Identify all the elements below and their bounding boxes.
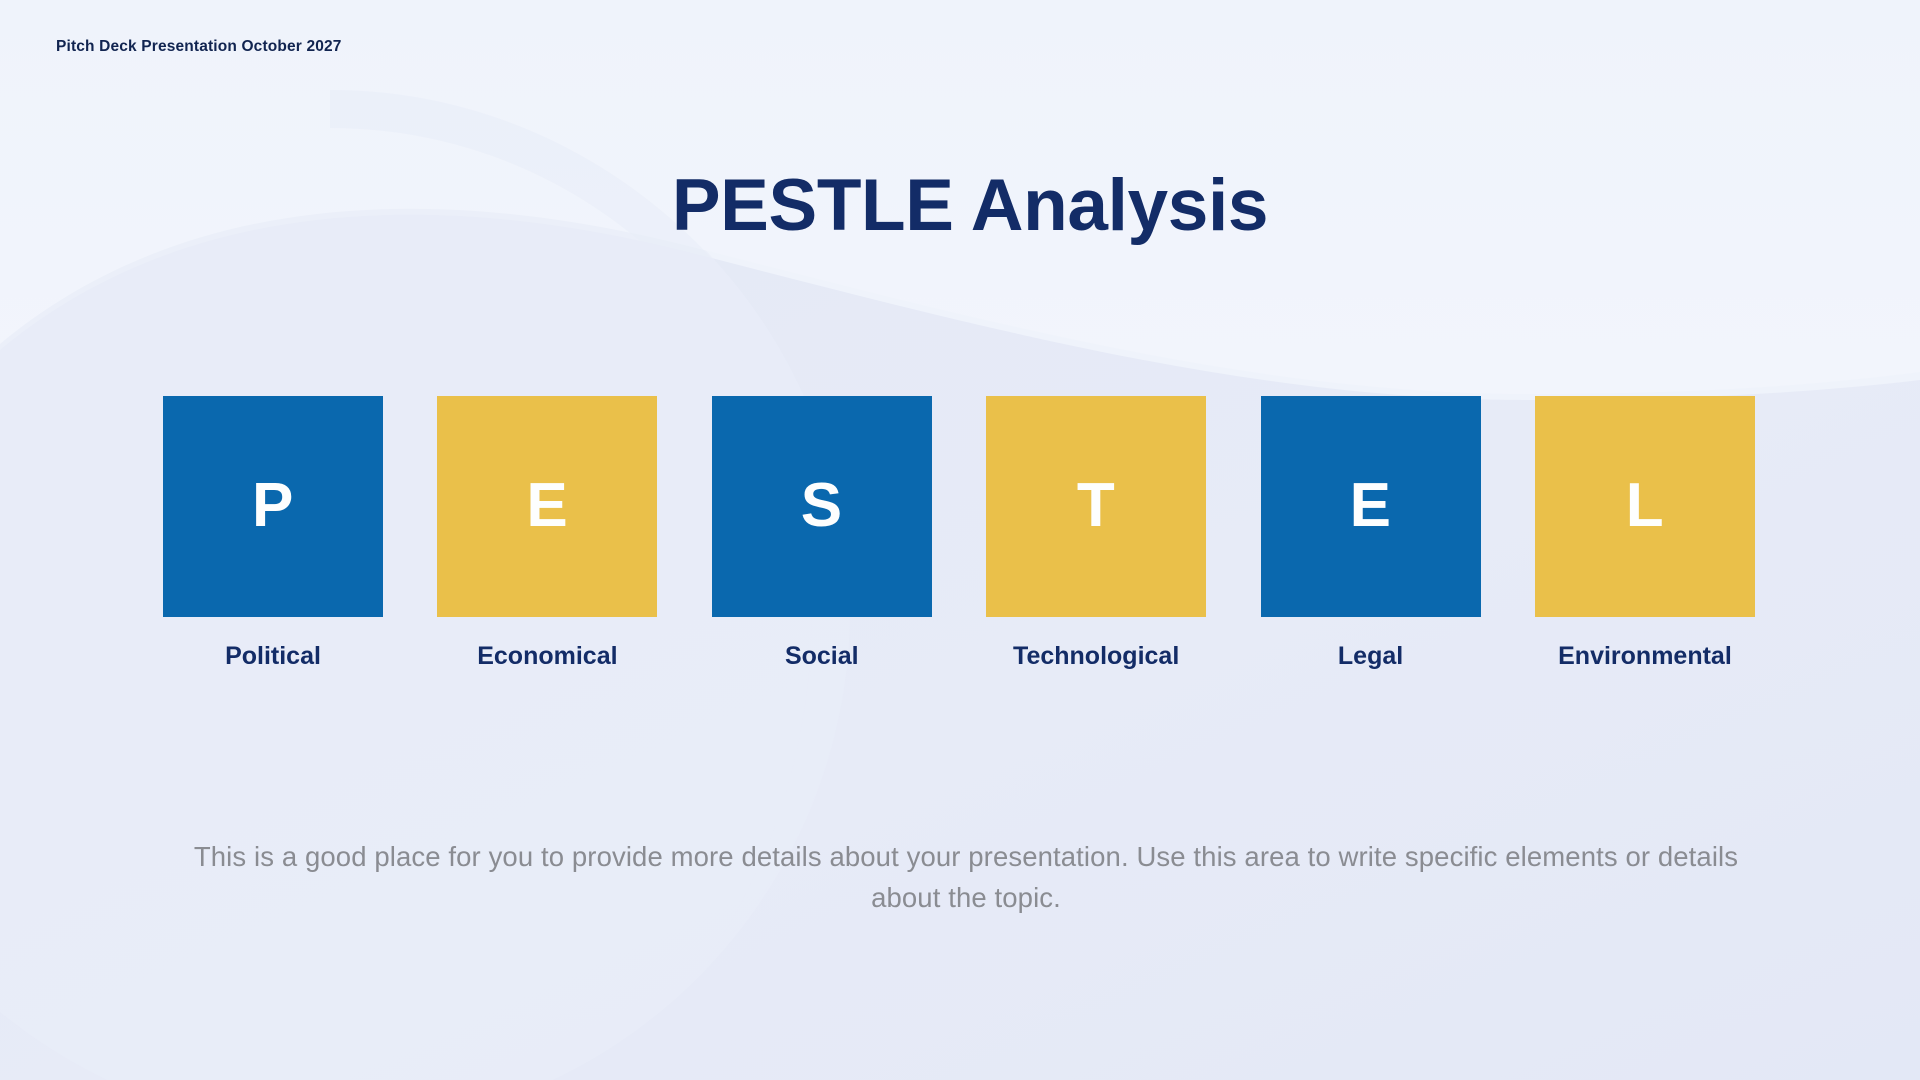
pestle-letter-legal: E xyxy=(1350,475,1392,537)
pestle-card-political[interactable]: P Political xyxy=(163,396,383,669)
pestle-label-environmental: Environmental xyxy=(1558,644,1732,669)
pestle-label-social: Social xyxy=(785,644,859,669)
pestle-card-row: P Political E Economical S Social T Tech… xyxy=(163,396,1755,669)
pestle-card-technological[interactable]: T Technological xyxy=(986,396,1206,669)
slide-eyebrow-text: Pitch Deck Presentation October 2027 xyxy=(56,38,342,56)
pestle-letter-political: P xyxy=(252,475,294,537)
pestle-card-legal[interactable]: E Legal xyxy=(1261,396,1481,669)
pestle-letter-social: S xyxy=(801,475,843,537)
pestle-square-technological[interactable]: T xyxy=(986,396,1206,617)
pestle-label-economical: Economical xyxy=(477,644,617,669)
pestle-label-political: Political xyxy=(225,644,321,669)
pestle-square-economical[interactable]: E xyxy=(437,396,657,617)
pestle-square-legal[interactable]: E xyxy=(1261,396,1481,617)
pestle-square-social[interactable]: S xyxy=(712,396,932,617)
slide-body-paragraph: This is a good place for you to provide … xyxy=(180,836,1752,920)
presentation-slide: Pitch Deck Presentation October 2027 PES… xyxy=(0,0,1920,1080)
pestle-square-political[interactable]: P xyxy=(163,396,383,617)
pestle-label-technological: Technological xyxy=(1013,644,1179,669)
pestle-letter-environmental: L xyxy=(1626,475,1665,537)
pestle-card-economical[interactable]: E Economical xyxy=(437,396,657,669)
pestle-square-environmental[interactable]: L xyxy=(1535,396,1755,617)
pestle-letter-technological: T xyxy=(1077,475,1116,537)
pestle-label-legal: Legal xyxy=(1338,644,1403,669)
page-title: PESTLE Analysis xyxy=(0,169,1920,242)
pestle-card-environmental[interactable]: L Environmental xyxy=(1535,396,1755,669)
pestle-letter-economical: E xyxy=(526,475,568,537)
pestle-card-social[interactable]: S Social xyxy=(712,396,932,669)
